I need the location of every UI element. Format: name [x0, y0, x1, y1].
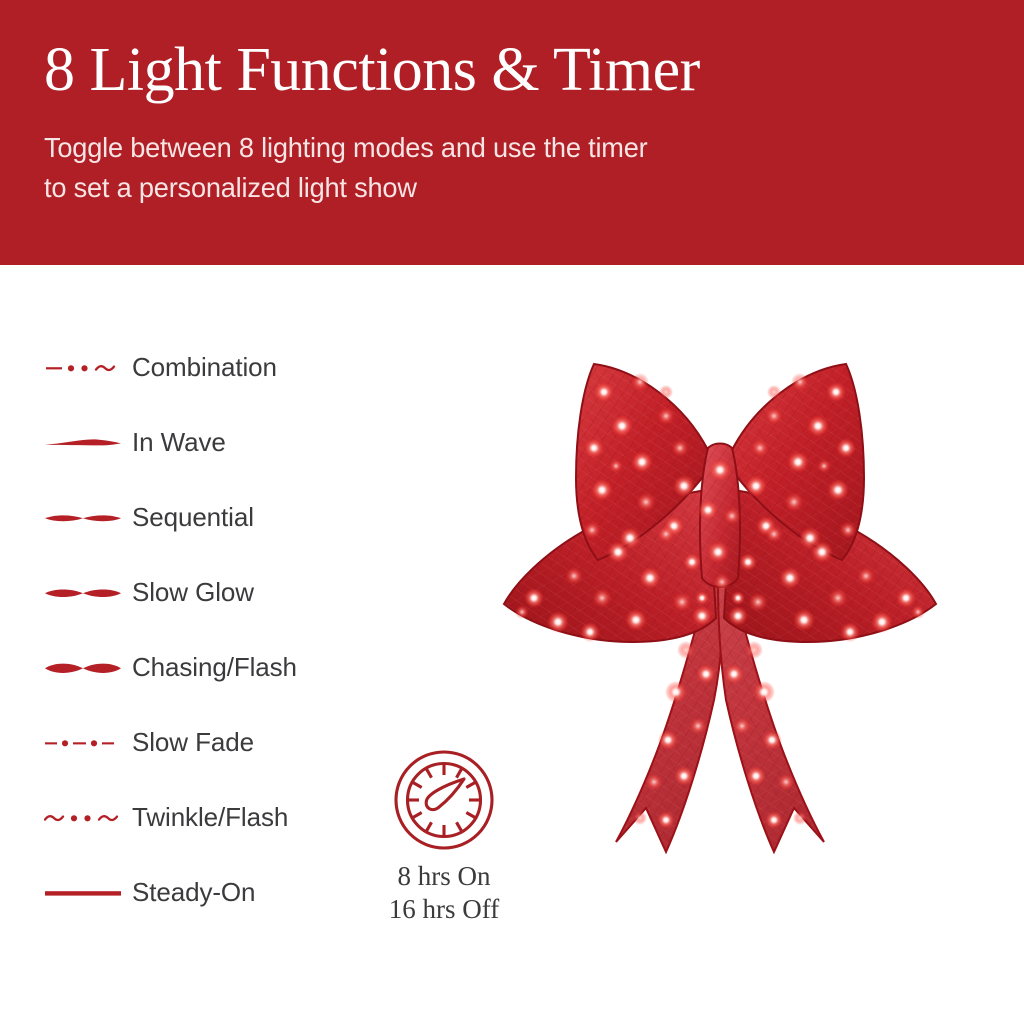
- product-image-lighted-bow: [470, 330, 970, 900]
- legend-row: In Wave: [44, 405, 374, 480]
- subtitle-line-2: to set a personalized light show: [44, 168, 859, 208]
- legend-label: Steady-On: [132, 877, 255, 908]
- page-title: 8 Light Functions & Timer: [44, 38, 984, 102]
- legend-label: Combination: [132, 352, 277, 383]
- header-banner: 8 Light Functions & Timer Toggle between…: [0, 0, 1024, 265]
- pattern-dash-dot-dot-tilde-icon: [44, 353, 122, 383]
- legend-row: Twinkle/Flash: [44, 780, 374, 855]
- subtitle-line-1: Toggle between 8 lighting modes and use …: [44, 132, 647, 163]
- page-subtitle: Toggle between 8 lighting modes and use …: [44, 128, 859, 208]
- pattern-single-lens-icon: [44, 428, 122, 458]
- pattern-double-lens-thin-icon: [44, 503, 122, 533]
- legend-label: Slow Glow: [132, 577, 254, 608]
- legend-row: Chasing/Flash: [44, 630, 374, 705]
- legend-row: Sequential: [44, 480, 374, 555]
- legend-label: Sequential: [132, 502, 254, 533]
- pattern-double-lens-thick-icon: [44, 653, 122, 683]
- legend-label: Chasing/Flash: [132, 652, 297, 683]
- pattern-double-lens-medium-icon: [44, 578, 122, 608]
- legend-label: In Wave: [132, 427, 226, 458]
- pattern-solid-line-icon: [44, 878, 122, 908]
- legend-row: Slow Glow: [44, 555, 374, 630]
- legend-row: Steady-On: [44, 855, 374, 930]
- infographic-page: 8 Light Functions & Timer Toggle between…: [0, 0, 1024, 1024]
- legend-label: Slow Fade: [132, 727, 254, 758]
- legend-row: Slow Fade: [44, 705, 374, 780]
- pattern-tilde-dot-dot-tilde-icon: [44, 803, 122, 833]
- legend-label: Twinkle/Flash: [132, 802, 288, 833]
- pattern-dash-dot-dash-dot-dash-icon: [44, 728, 122, 758]
- light-functions-legend: Combination In Wave Sequential: [44, 330, 374, 930]
- legend-row: Combination: [44, 330, 374, 405]
